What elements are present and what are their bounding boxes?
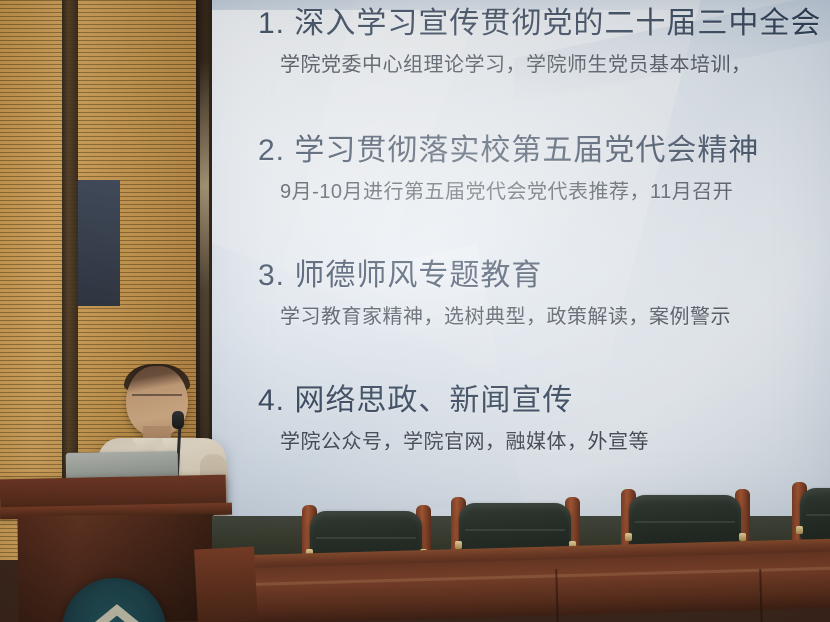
presenter-trousers [78, 180, 120, 306]
podium-side-block [194, 546, 258, 622]
chair-stud-right [739, 533, 746, 541]
glasses-icon [132, 394, 182, 405]
chair [615, 489, 755, 549]
chair-stud-left [625, 533, 632, 541]
microphone-icon [172, 411, 184, 429]
screen-vignette [212, 0, 830, 516]
chair [786, 482, 830, 542]
chair-backrest [629, 495, 741, 547]
chair-backrest [800, 488, 830, 540]
chair-stud-left [455, 541, 462, 549]
presentation-photo: 1. 深入学习宣传贯彻党的二十届三中全会 学院党委中心组理论学习，学院师生党员基… [0, 0, 830, 622]
chair-stud-left [796, 526, 803, 534]
projection-screen: 1. 深入学习宣传贯彻党的二十届三中全会 学院党委中心组理论学习，学院师生党员基… [212, 0, 830, 516]
